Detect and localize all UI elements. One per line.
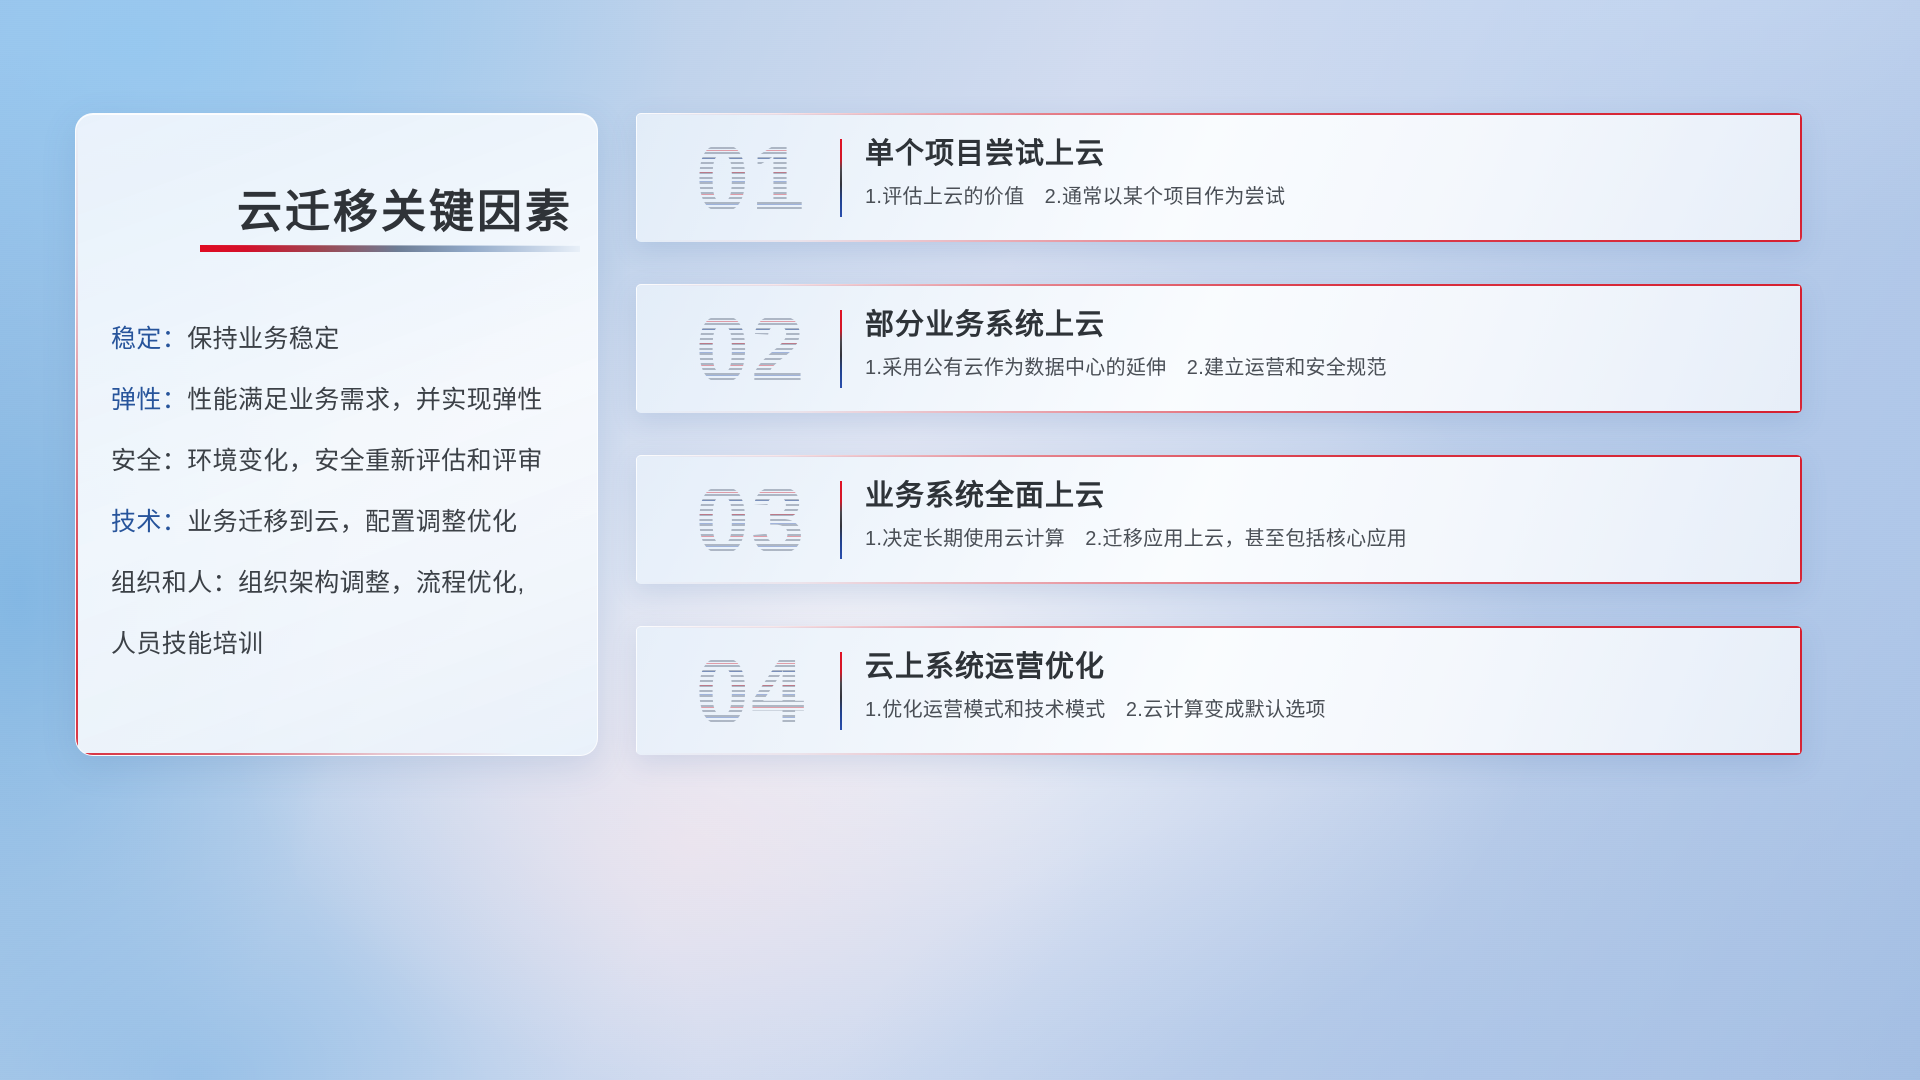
card-title: 部分业务系统上云 bbox=[865, 304, 1778, 346]
card-bottom-accent-line bbox=[636, 411, 1802, 413]
factor-text: 业务迁移到云，配置调整优化 bbox=[187, 508, 517, 536]
card-description: 1.采用公有云作为数据中心的延伸 2.建立运营和安全规范 bbox=[865, 354, 1778, 382]
card-title: 单个项目尝试上云 bbox=[865, 133, 1778, 175]
factor-label: 组织和人： bbox=[111, 569, 238, 597]
factor-row: 人员技能培训 bbox=[111, 614, 577, 675]
factor-label: 稳定： bbox=[111, 325, 187, 353]
slide-canvas: 云迁移关键因素 稳定：保持业务稳定弹性：性能满足业务需求，并实现弹性安全：环境变… bbox=[0, 0, 1920, 1080]
card-right-accent-line bbox=[1800, 626, 1802, 755]
card-right-accent-line bbox=[1800, 455, 1802, 584]
stage-card-04[interactable]: 0404云上系统运营优化1.优化运营模式和技术模式 2.云计算变成默认选项 bbox=[636, 626, 1802, 755]
card-description: 1.决定长期使用云计算 2.迁移应用上云，甚至包括核心应用 bbox=[865, 525, 1778, 553]
card-body: 业务系统全面上云1.决定长期使用云计算 2.迁移应用上云，甚至包括核心应用 bbox=[865, 475, 1778, 553]
card-bottom-accent-line bbox=[636, 753, 1802, 755]
factor-row: 技术：业务迁移到云，配置调整优化 bbox=[111, 492, 577, 553]
card-description: 1.评估上云的价值 2.通常以某个项目作为尝试 bbox=[865, 183, 1778, 211]
factor-list: 稳定：保持业务稳定弹性：性能满足业务需求，并实现弹性安全：环境变化，安全重新评估… bbox=[111, 309, 577, 675]
card-top-accent-line bbox=[636, 284, 1802, 286]
factor-text: 保持业务稳定 bbox=[187, 325, 339, 353]
card-title: 云上系统运营优化 bbox=[865, 646, 1778, 688]
stage-card-03[interactable]: 0303业务系统全面上云1.决定长期使用云计算 2.迁移应用上云，甚至包括核心应… bbox=[636, 455, 1802, 584]
factor-row: 安全：环境变化，安全重新评估和评审 bbox=[111, 431, 577, 492]
factor-label: 安全： bbox=[111, 447, 187, 475]
card-index-number-tint: 03 bbox=[656, 461, 846, 581]
factor-label: 弹性： bbox=[111, 386, 187, 414]
card-left-highlight bbox=[636, 113, 637, 242]
card-bottom-accent-line bbox=[636, 240, 1802, 242]
card-bottom-accent-line bbox=[636, 582, 1802, 584]
card-divider-bar bbox=[840, 652, 842, 730]
card-index-number-tint: 01 bbox=[656, 119, 846, 239]
card-top-accent-line bbox=[636, 626, 1802, 628]
factor-row: 组织和人：组织架构调整，流程优化, bbox=[111, 553, 577, 614]
card-top-accent-line bbox=[636, 455, 1802, 457]
card-divider-bar bbox=[840, 139, 842, 217]
page-title: 云迁移关键因素 bbox=[237, 175, 573, 240]
factor-text: 性能满足业务需求，并实现弹性 bbox=[187, 386, 543, 414]
card-index-number-tint: 02 bbox=[656, 290, 846, 410]
factor-text: 环境变化，安全重新评估和评审 bbox=[187, 447, 543, 475]
stage-card-01[interactable]: 0101单个项目尝试上云1.评估上云的价值 2.通常以某个项目作为尝试 bbox=[636, 113, 1802, 242]
title-underline-rule bbox=[200, 245, 580, 252]
factor-row: 稳定：保持业务稳定 bbox=[111, 309, 577, 370]
factor-text: 组织架构调整，流程优化, bbox=[238, 569, 525, 597]
card-left-highlight bbox=[636, 284, 637, 413]
card-body: 单个项目尝试上云1.评估上云的价值 2.通常以某个项目作为尝试 bbox=[865, 133, 1778, 211]
card-left-highlight bbox=[636, 455, 637, 584]
card-index-number-tint: 04 bbox=[656, 632, 846, 752]
card-divider-bar bbox=[840, 481, 842, 559]
card-body: 部分业务系统上云1.采用公有云作为数据中心的延伸 2.建立运营和安全规范 bbox=[865, 304, 1778, 382]
card-body: 云上系统运营优化1.优化运营模式和技术模式 2.云计算变成默认选项 bbox=[865, 646, 1778, 724]
stage-card-02[interactable]: 0202部分业务系统上云1.采用公有云作为数据中心的延伸 2.建立运营和安全规范 bbox=[636, 284, 1802, 413]
card-right-accent-line bbox=[1800, 284, 1802, 413]
card-divider-bar bbox=[840, 310, 842, 388]
factor-label: 技术： bbox=[111, 508, 187, 536]
card-left-highlight bbox=[636, 626, 637, 755]
card-right-accent-line bbox=[1800, 113, 1802, 242]
card-title: 业务系统全面上云 bbox=[865, 475, 1778, 517]
factor-row: 弹性：性能满足业务需求，并实现弹性 bbox=[111, 370, 577, 431]
factor-text: 人员技能培训 bbox=[111, 630, 263, 658]
card-top-accent-line bbox=[636, 113, 1802, 115]
card-description: 1.优化运营模式和技术模式 2.云计算变成默认选项 bbox=[865, 696, 1778, 724]
stage-card-list: 0101单个项目尝试上云1.评估上云的价值 2.通常以某个项目作为尝试0202部… bbox=[636, 113, 1802, 755]
key-factors-panel: 云迁移关键因素 稳定：保持业务稳定弹性：性能满足业务需求，并实现弹性安全：环境变… bbox=[75, 113, 598, 756]
